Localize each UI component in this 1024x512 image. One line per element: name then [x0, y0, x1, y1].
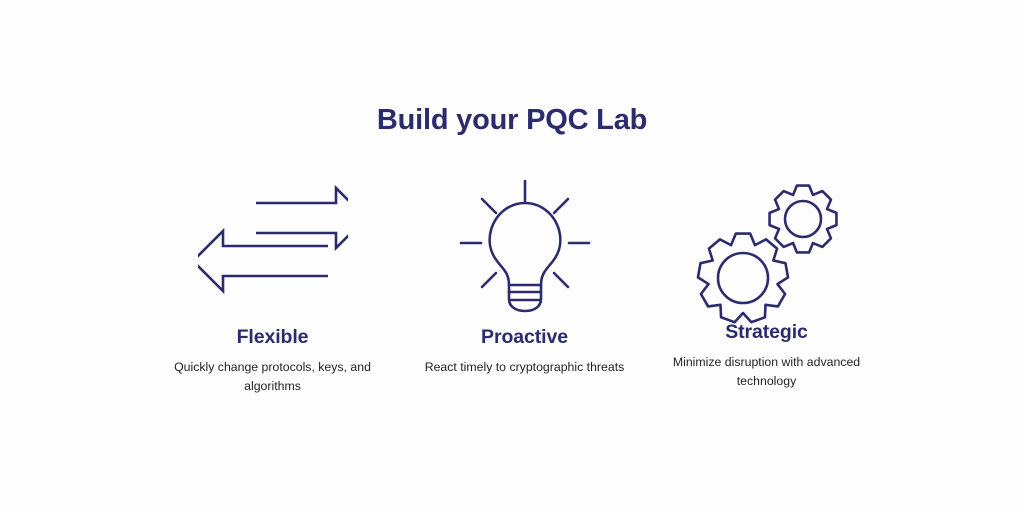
feature-card-flexible: Flexible Quickly change protocols, keys,…: [147, 170, 399, 396]
card-description-strategic: Minimize disruption with advanced techno…: [657, 353, 877, 391]
large-gear-hub-icon: [718, 253, 768, 303]
icon-container-flexible: [198, 170, 348, 315]
card-title-proactive: Proactive: [481, 325, 568, 349]
card-description-proactive: React timely to cryptographic threats: [425, 358, 625, 377]
lightbulb-rays-icon: [461, 181, 589, 287]
feature-columns: Flexible Quickly change protocols, keys,…: [0, 170, 1024, 430]
icon-container-strategic: [687, 170, 847, 315]
infographic-page: Build your PQC Lab Flexible Quickly chan…: [0, 0, 1024, 512]
icon-container-proactive: [455, 170, 595, 315]
feature-card-proactive: Proactive React timely to cryptographic …: [399, 170, 651, 377]
lightbulb-icon: [455, 173, 595, 313]
gears-icon: [687, 170, 847, 330]
feature-card-strategic: Strategic Minimize disruption with advan…: [641, 170, 893, 391]
large-gear-icon: [698, 234, 788, 323]
small-gear-hub-icon: [785, 201, 821, 237]
page-title: Build your PQC Lab: [0, 103, 1024, 137]
card-title-flexible: Flexible: [237, 325, 309, 349]
small-gear-icon: [769, 186, 836, 253]
card-title-strategic: Strategic: [725, 320, 808, 344]
two-way-arrows-icon: [198, 178, 348, 308]
card-description-flexible: Quickly change protocols, keys, and algo…: [163, 358, 383, 396]
